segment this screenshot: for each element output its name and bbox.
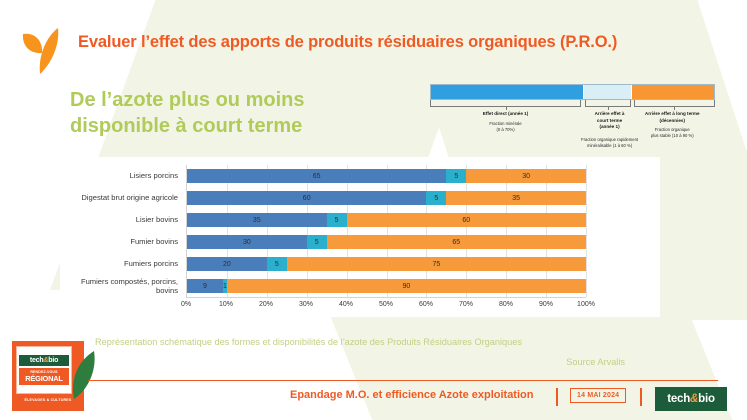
schema-labels: Effet direct (année 1) Fraction minérale… xyxy=(430,109,715,161)
chart-bar-row: 60535 xyxy=(187,191,586,205)
rendezvous-regional-logo: tech&bio RENDEZ-VOUS RÉGIONAL ÉLEVAGES &… xyxy=(12,341,100,413)
slide-canvas: Evaluer l’effet des apports de produits … xyxy=(0,0,747,420)
chart-x-tick-label: 80% xyxy=(499,301,513,308)
chart-bar-segment: 5 xyxy=(327,213,347,227)
chart-bar-row: 20575 xyxy=(187,257,586,271)
chart-bar-segment: 20 xyxy=(187,257,267,271)
footer-separator xyxy=(640,388,642,406)
schema-bar xyxy=(430,84,715,100)
chart-bar-segment: 35 xyxy=(187,213,327,227)
chart-bar-row: 65530 xyxy=(187,169,586,183)
schema-brackets xyxy=(430,100,715,109)
footer-divider xyxy=(88,380,718,381)
chart-x-tick-label: 60% xyxy=(419,301,433,308)
chart-bar-row: 35560 xyxy=(187,213,586,227)
logo-line-2: RÉGIONAL xyxy=(19,374,69,383)
chart-bar-segment: 35 xyxy=(446,191,586,205)
chart-x-tick-label: 30% xyxy=(299,301,313,308)
footer-separator xyxy=(556,388,558,406)
chart-category-axis: Lisiers porcinsDigestat brut origine agr… xyxy=(60,165,182,297)
chart-category-label: Digestat brut origine agricole xyxy=(60,187,182,209)
chart-caption: Représentation schématique des formes et… xyxy=(95,336,625,370)
logo-footline: ÉLEVAGES & CULTURES xyxy=(16,398,80,402)
schema-segment-short-term xyxy=(584,85,632,99)
chart-category-label: Lisiers porcins xyxy=(60,165,182,187)
schema-label-long-term: Arrière effet à long terme (décennies) F… xyxy=(630,111,716,140)
chart-x-tick-label: 70% xyxy=(459,301,473,308)
logo-brand-tail: bio xyxy=(48,357,58,364)
gridline xyxy=(586,165,587,297)
page-subtitle: De l’azote plus ou moins disponible à co… xyxy=(70,88,400,139)
chart-x-tick-label: 20% xyxy=(259,301,273,308)
chart-bar-row: 30565 xyxy=(187,235,586,249)
chart-category-label: Lisier bovins xyxy=(60,209,182,231)
bracket-direct xyxy=(430,100,581,107)
chart-bar-segment: 90 xyxy=(227,279,586,293)
chart-x-tick-label: 10% xyxy=(219,301,233,308)
chart-card: Lisiers porcinsDigestat brut origine agr… xyxy=(60,157,660,317)
techbio-tail: bio xyxy=(698,393,715,405)
chart-bar-segment: 30 xyxy=(466,169,586,183)
chart-bar-segment: 5 xyxy=(426,191,446,205)
chart-plot-area: 65530605353556030565205759190 xyxy=(186,165,586,297)
logo-white-card: tech&bio RENDEZ-VOUS RÉGIONAL xyxy=(16,346,72,394)
chart-x-tick-label: 0% xyxy=(181,301,191,308)
chart-bar-segment: 60 xyxy=(347,213,586,227)
logo-subtitle: RENDEZ-VOUS RÉGIONAL xyxy=(19,368,69,385)
chart-bar-segment: 9 xyxy=(187,279,223,293)
logo-brand-text: tech xyxy=(30,357,44,364)
chart-bar-segment: 65 xyxy=(327,235,586,249)
page-title: Evaluer l’effet des apports de produits … xyxy=(78,33,728,52)
schema-label-heading: Effet direct (année 1) xyxy=(430,111,581,118)
footer-title: Epandage M.O. et efficience Azote exploi… xyxy=(290,389,533,401)
nitrogen-schema-diagram: Effet direct (année 1) Fraction minérale… xyxy=(430,84,715,161)
chart-bar-segment: 5 xyxy=(267,257,287,271)
chart-bar-row: 9190 xyxy=(187,279,586,293)
logo-brand: tech&bio xyxy=(19,355,69,366)
leaf-icon xyxy=(18,22,76,80)
bracket-long-term xyxy=(634,100,715,107)
chart-bar-segment: 60 xyxy=(187,191,426,205)
chart-category-label: Fumiers porcins xyxy=(60,253,182,275)
chart-bar-segment: 75 xyxy=(287,257,586,271)
techbio-amp: & xyxy=(690,393,698,405)
chart-x-tick-label: 100% xyxy=(577,301,595,308)
schema-label-sub: Fraction minérale (0 à 70%) xyxy=(430,121,581,133)
caption-text: Représentation schématique des formes et… xyxy=(95,337,522,347)
bracket-short-term xyxy=(585,100,631,107)
schema-label-direct: Effet direct (année 1) Fraction minérale… xyxy=(430,111,581,133)
chart-category-label: Fumiers compostés, porcins, bovins xyxy=(60,275,182,297)
chart-bar-segment: 5 xyxy=(307,235,327,249)
chart-x-tick-label: 50% xyxy=(379,301,393,308)
chart-bars: 65530605353556030565205759190 xyxy=(187,165,586,297)
chart-bar-segment: 65 xyxy=(187,169,446,183)
chart-x-tick-label: 90% xyxy=(539,301,553,308)
chart-category-label: Fumier bovins xyxy=(60,231,182,253)
chart-x-tick-label: 40% xyxy=(339,301,353,308)
schema-label-sub: Fraction organique plus stable (10 à 90 … xyxy=(630,127,716,139)
caption-source: Source Arvalis xyxy=(95,356,625,370)
chart-bar-segment: 5 xyxy=(446,169,466,183)
chart-x-axis: 0%10%20%30%40%50%60%70%80%90%100% xyxy=(186,297,586,311)
techbio-logo: tech&bio xyxy=(655,387,727,411)
schema-segment-direct xyxy=(431,85,584,99)
stacked-bar-chart: Lisiers porcinsDigestat brut origine agr… xyxy=(60,157,660,317)
footer-date-badge: 14 MAI 2024 xyxy=(570,388,626,403)
schema-label-heading: Arrière effet à long terme (décennies) xyxy=(630,111,716,124)
chart-bar-segment: 30 xyxy=(187,235,307,249)
schema-segment-long-term xyxy=(632,85,714,99)
techbio-brand: tech xyxy=(667,393,690,405)
